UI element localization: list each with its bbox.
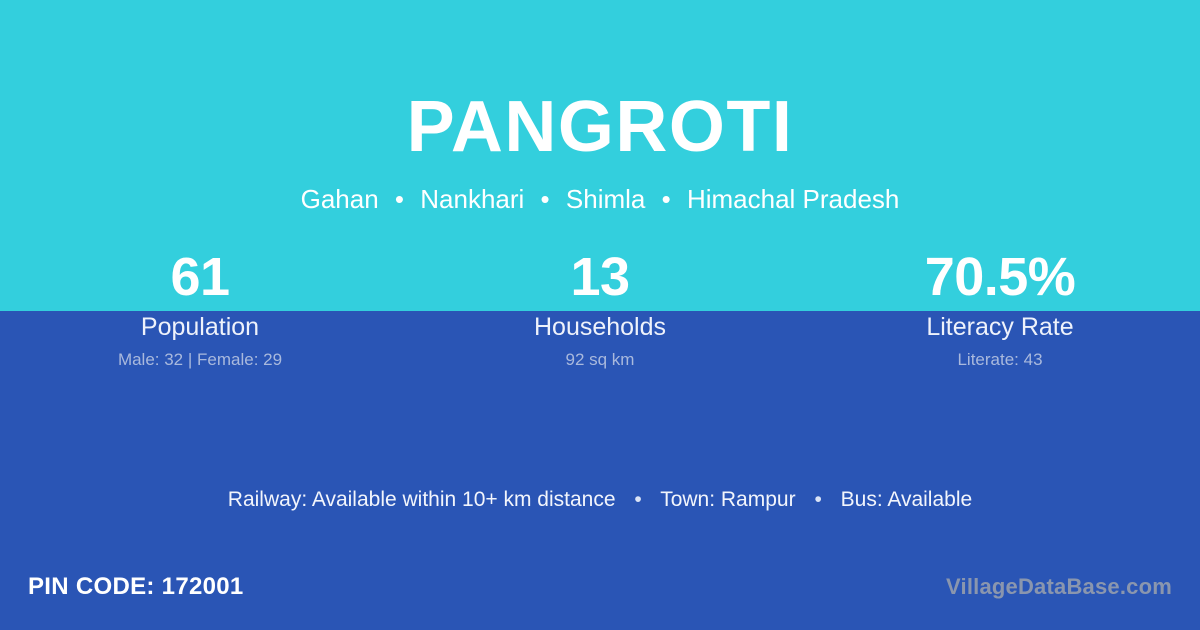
transit-info: Railway: Available within 10+ km distanc… [0, 486, 1200, 514]
breadcrumb-item-district: Shimla [566, 184, 645, 214]
transit-item-town: Town: Rampur [660, 488, 795, 511]
stat-sublabel: 92 sq km [400, 349, 800, 370]
village-info-card: PANGROTI Gahan • Nankhari • Shimla • Him… [0, 0, 1200, 630]
transit-item-bus: Bus: Available [841, 488, 973, 511]
stat-label: Population [0, 312, 400, 342]
stat-sublabel: Literate: 43 [800, 349, 1200, 370]
stat-label: Literacy Rate [800, 312, 1200, 342]
breadcrumb-separator: • [653, 183, 680, 215]
transit-item-railway: Railway: Available within 10+ km distanc… [228, 488, 616, 511]
transit-separator: • [801, 486, 834, 514]
stat-sublabel: Male: 32 | Female: 29 [0, 349, 400, 370]
breadcrumb-item-block: Nankhari [420, 184, 524, 214]
breadcrumb: Gahan • Nankhari • Shimla • Himachal Pra… [0, 183, 1200, 215]
stat-literacy-rate: 70.5% Literacy Rate Literate: 43 [800, 246, 1200, 370]
brand-watermark: VillageDataBase.com [946, 573, 1172, 601]
stat-value: 61 [0, 246, 400, 308]
stat-value: 70.5% [800, 246, 1200, 308]
stat-households: 13 Households 92 sq km [400, 246, 800, 370]
transit-separator: • [621, 486, 654, 514]
stat-value: 13 [400, 246, 800, 308]
breadcrumb-separator: • [532, 183, 559, 215]
stats-row: 61 Population Male: 32 | Female: 29 13 H… [0, 246, 1200, 370]
breadcrumb-item-panchayat: Gahan [301, 184, 379, 214]
footer: PIN CODE: 172001 VillageDataBase.com [0, 558, 1200, 630]
stat-label: Households [400, 312, 800, 342]
breadcrumb-separator: • [386, 183, 413, 215]
page-title: PANGROTI [0, 83, 1200, 171]
pin-code: PIN CODE: 172001 [28, 572, 244, 602]
breadcrumb-item-state: Himachal Pradesh [687, 184, 899, 214]
stat-population: 61 Population Male: 32 | Female: 29 [0, 246, 400, 370]
